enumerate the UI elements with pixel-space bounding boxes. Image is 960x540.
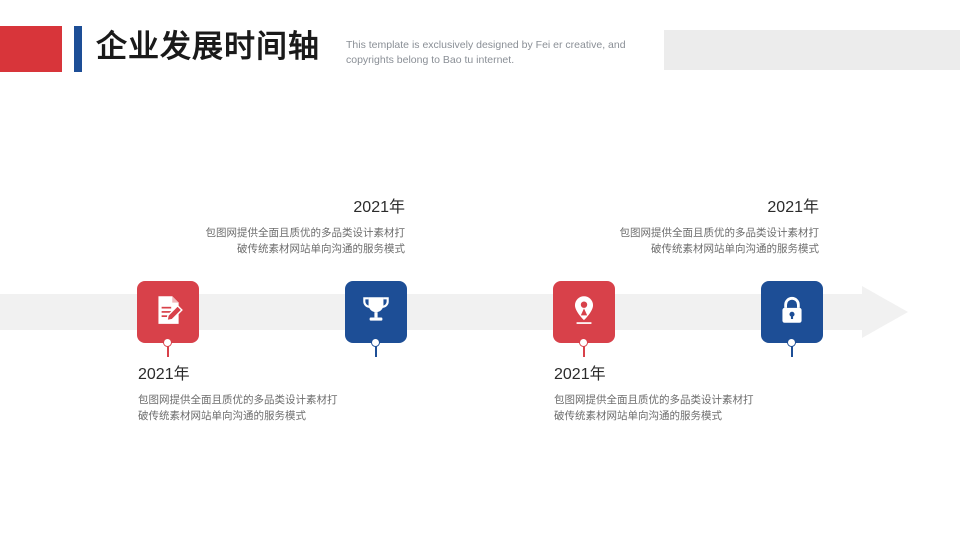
header-subtitle: This template is exclusively designed by… bbox=[346, 38, 646, 68]
timeline-node-4[interactable] bbox=[761, 281, 823, 343]
timeline-text-2: 2021年 包图网提供全面且质优的多品类设计素材打 破传统素材网站单向沟通的服务… bbox=[175, 193, 405, 257]
timeline-node-4-dot bbox=[787, 338, 796, 347]
timeline-desc-3-line2: 破传统素材网站单向沟通的服务模式 bbox=[554, 408, 784, 424]
timeline-desc-1-line2: 破传统素材网站单向沟通的服务模式 bbox=[138, 408, 368, 424]
header-red-block bbox=[0, 26, 62, 72]
document-edit-icon bbox=[151, 293, 185, 332]
timeline-year-3: 2021年 bbox=[554, 360, 784, 384]
header-blue-bar bbox=[74, 26, 82, 72]
timeline-text-4: 2021年 包图网提供全面且质优的多品类设计素材打 破传统素材网站单向沟通的服务… bbox=[589, 193, 819, 257]
header-placeholder-block bbox=[664, 30, 960, 70]
timeline-year-1: 2021年 bbox=[138, 360, 368, 384]
timeline-desc-4-line2: 破传统素材网站单向沟通的服务模式 bbox=[589, 241, 819, 257]
timeline-node-3[interactable] bbox=[553, 281, 615, 343]
timeline-node-2[interactable] bbox=[345, 281, 407, 343]
timeline-desc-2-line1: 包图网提供全面且质优的多品类设计素材打 bbox=[175, 225, 405, 241]
timeline-node-1-dot bbox=[163, 338, 172, 347]
location-pin-icon bbox=[567, 293, 601, 332]
trophy-icon bbox=[359, 293, 393, 332]
timeline-text-1: 2021年 包图网提供全面且质优的多品类设计素材打 破传统素材网站单向沟通的服务… bbox=[138, 360, 368, 424]
timeline-node-1[interactable] bbox=[137, 281, 199, 343]
timeline-desc-2-line2: 破传统素材网站单向沟通的服务模式 bbox=[175, 241, 405, 257]
timeline-bar-body bbox=[0, 294, 862, 330]
timeline-node-3-dot bbox=[579, 338, 588, 347]
timeline-text-3: 2021年 包图网提供全面且质优的多品类设计素材打 破传统素材网站单向沟通的服务… bbox=[554, 360, 784, 424]
timeline-year-4: 2021年 bbox=[589, 193, 819, 217]
timeline-desc-3-line1: 包图网提供全面且质优的多品类设计素材打 bbox=[554, 392, 784, 408]
lock-icon bbox=[775, 293, 809, 332]
timeline-desc-4-line1: 包图网提供全面且质优的多品类设计素材打 bbox=[589, 225, 819, 241]
timeline-arrow-head bbox=[862, 286, 908, 338]
timeline-year-2: 2021年 bbox=[175, 193, 405, 217]
timeline-desc-1-line1: 包图网提供全面且质优的多品类设计素材打 bbox=[138, 392, 368, 408]
timeline-node-2-dot bbox=[371, 338, 380, 347]
slide-header: 企业发展时间轴 This template is exclusively des… bbox=[0, 0, 960, 96]
page-title: 企业发展时间轴 bbox=[96, 24, 320, 70]
